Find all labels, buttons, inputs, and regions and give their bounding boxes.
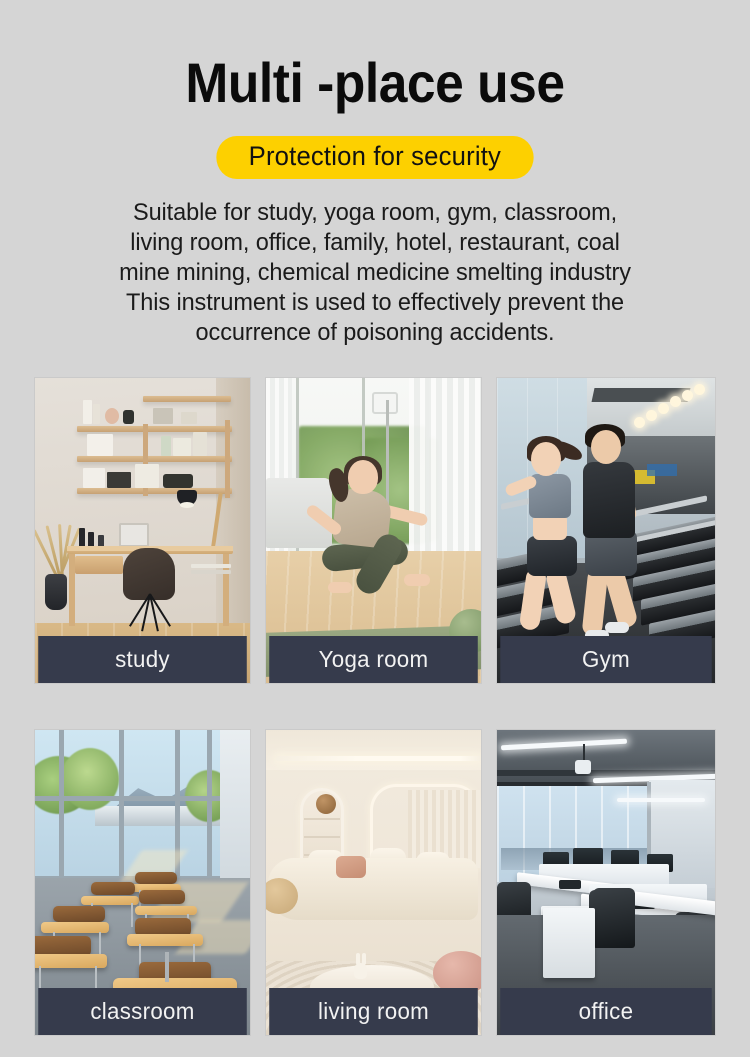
use-case-card-office[interactable]: office	[497, 730, 715, 1035]
use-case-card-classroom[interactable]: classroom	[35, 730, 250, 1035]
use-case-gallery: study	[35, 378, 715, 1035]
yoga-person	[300, 460, 440, 600]
description-line-5: occurrence of poisoning accidents.	[51, 318, 698, 348]
description-line-3: mine mining, chemical medicine smelting …	[51, 258, 698, 288]
protection-badge: Protection for security	[216, 136, 533, 179]
gym-runner-woman	[507, 436, 593, 636]
card-caption-office: office	[500, 988, 711, 1035]
use-case-card-gym[interactable]: Gym	[497, 378, 715, 683]
use-case-card-living-room[interactable]: living room	[266, 730, 481, 1035]
description-line-2: living room, office, family, hotel, rest…	[51, 228, 698, 258]
use-case-card-yoga-room[interactable]: Yoga room	[266, 378, 481, 683]
description-line-1: Suitable for study, yoga room, gym, clas…	[51, 198, 698, 228]
product-detail-page: Multi -place use Protection for security…	[0, 0, 750, 1057]
badge-container: Protection for security	[0, 136, 750, 179]
card-caption-living-room: living room	[269, 988, 478, 1035]
card-caption-study: study	[38, 636, 247, 683]
card-caption-yoga-room: Yoga room	[269, 636, 478, 683]
bunny-figurine	[352, 953, 368, 979]
card-caption-classroom: classroom	[38, 988, 247, 1035]
description-paragraph: Suitable for study, yoga room, gym, clas…	[51, 198, 698, 348]
description-line-4: This instrument is used to effectively p…	[51, 288, 698, 318]
page-title: Multi -place use	[30, 54, 720, 113]
use-case-card-study[interactable]: study	[35, 378, 250, 683]
card-caption-gym: Gym	[500, 636, 711, 683]
